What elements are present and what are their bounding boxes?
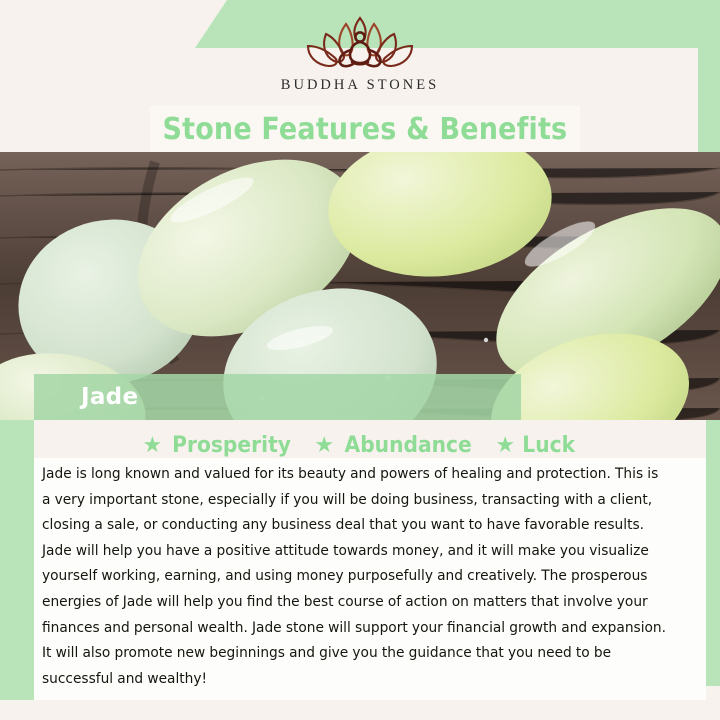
description-text: Jade is long known and valued for its be… xyxy=(42,462,668,692)
stone-name-band: Jade xyxy=(34,374,521,420)
benefit-tag: ★ Luck xyxy=(495,433,577,458)
page-title: Stone Features & Benefits xyxy=(163,112,568,147)
star-icon: ★ xyxy=(495,434,515,456)
lotus-meditation-icon xyxy=(296,12,424,74)
brand-header: BUDDHA STONES xyxy=(0,0,720,106)
benefit-tags: ★ Prosperity ★ Abundance ★ Luck xyxy=(0,428,720,462)
benefit-label: Luck xyxy=(522,433,575,458)
benefit-tag: ★ Abundance xyxy=(314,433,477,458)
title-banner: Stone Features & Benefits xyxy=(150,106,580,152)
brand-name: BUDDHA STONES xyxy=(281,77,439,94)
description-panel: Jade is long known and valued for its be… xyxy=(34,458,706,700)
star-icon: ★ xyxy=(143,434,163,456)
benefit-tag: ★ Prosperity xyxy=(143,433,297,458)
stone-name-label: Jade xyxy=(81,384,138,410)
benefit-label: Abundance xyxy=(345,433,472,458)
benefit-label: Prosperity xyxy=(172,433,291,458)
star-icon: ★ xyxy=(314,434,334,456)
